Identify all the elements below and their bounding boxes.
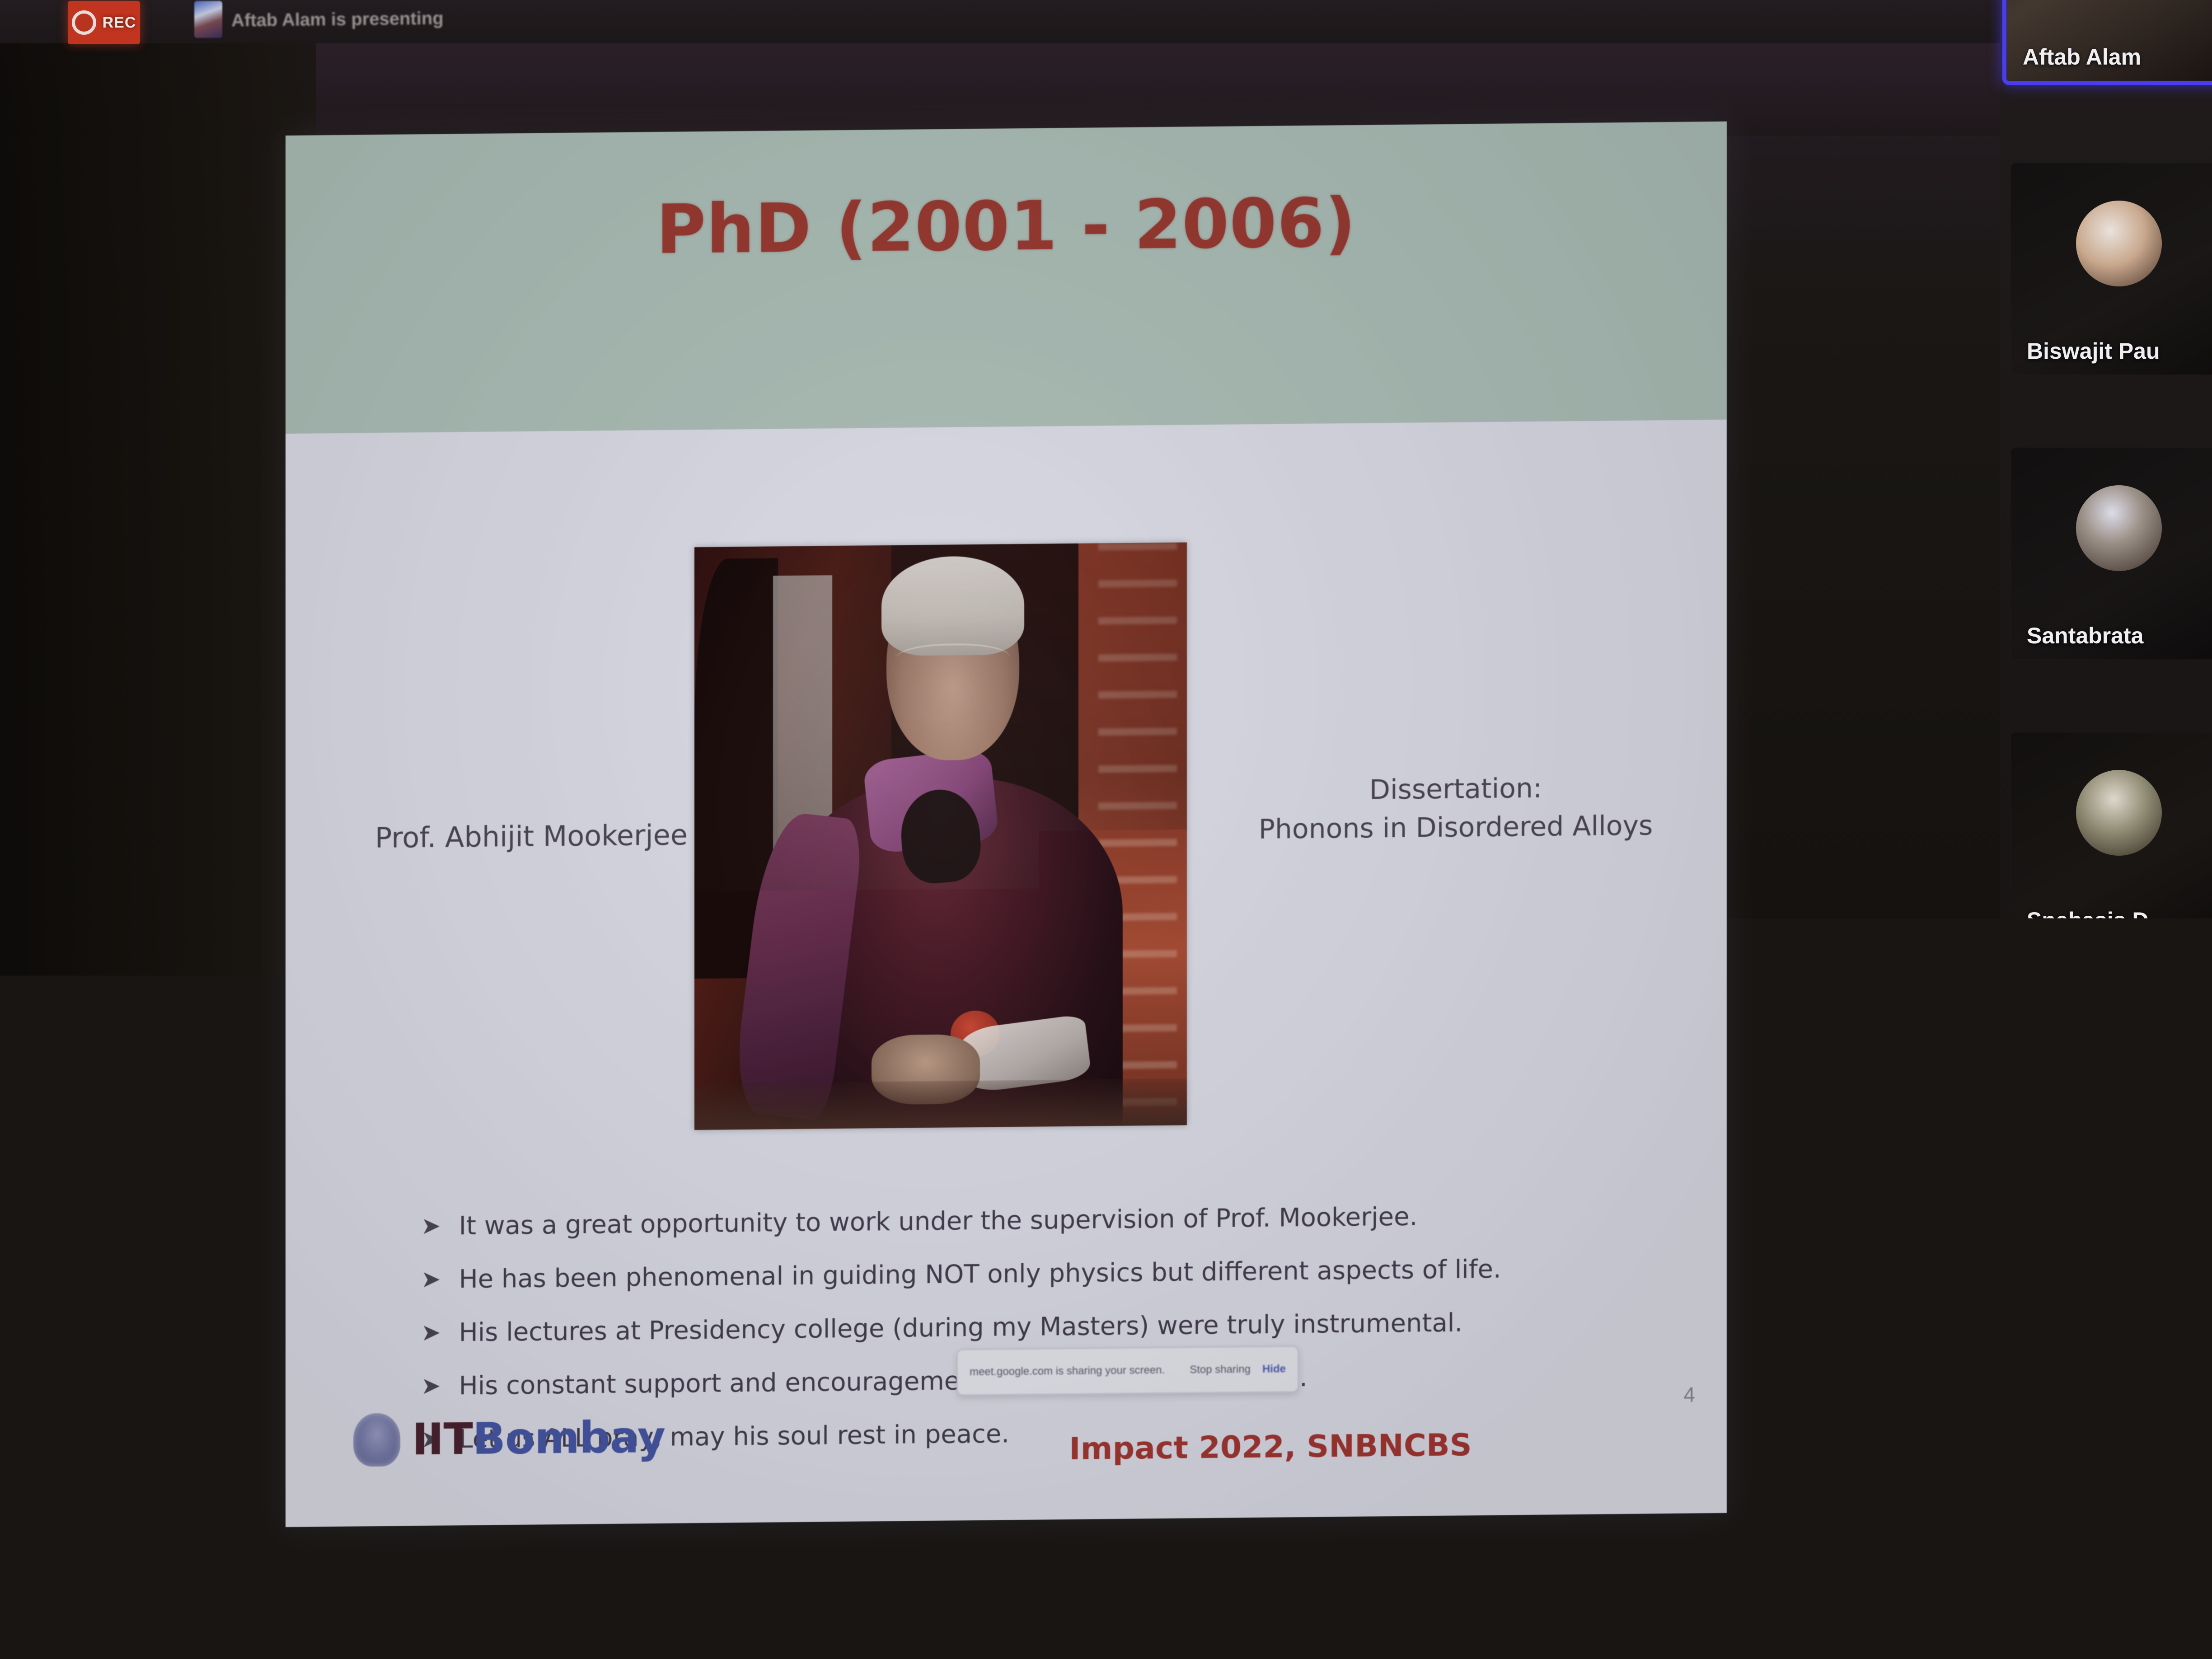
share-message: meet.google.com is sharing your screen. bbox=[970, 1364, 1178, 1379]
participant-tile-aftab-alam[interactable]: Aftab Alam bbox=[2002, 0, 2212, 85]
list-item: ➤ He has been phenomenal in guiding NOT … bbox=[421, 1255, 1664, 1293]
bullet-text: It was a great opportunity to work under… bbox=[459, 1202, 1664, 1239]
logo-iit-text: IIT bbox=[412, 1414, 473, 1465]
dissertation-title: Phonons in Disordered Alloys bbox=[1216, 806, 1695, 850]
iit-bombay-logo: IITBombay bbox=[353, 1411, 665, 1467]
slide-number: 4 bbox=[1683, 1382, 1695, 1406]
avatar bbox=[2076, 770, 2162, 856]
conference-footer: Impact 2022, SNBNCBS bbox=[977, 1426, 1564, 1468]
hide-button[interactable]: Hide bbox=[1262, 1363, 1286, 1376]
stop-sharing-button[interactable]: Stop sharing bbox=[1190, 1363, 1251, 1376]
participant-name: Santabrata bbox=[2027, 623, 2143, 649]
participant-name: Hemant Ka bbox=[2027, 1476, 2145, 1503]
participant-rail: Aftab Alam Biswajit Pau Santabrata Sneha… bbox=[2000, 0, 2212, 1659]
recording-label: REC bbox=[103, 14, 136, 32]
bullet-arrow-icon: ➤ bbox=[421, 1321, 441, 1345]
participant-name: Snehasis D bbox=[2027, 907, 2149, 933]
slide-title-band bbox=[286, 122, 1727, 434]
avatar bbox=[2076, 1339, 2162, 1425]
bullet-text: His lectures at Presidency college (duri… bbox=[459, 1308, 1664, 1345]
dissertation-block: Dissertation: Phonons in Disordered Allo… bbox=[1216, 768, 1695, 849]
logo-bombay-text: Bombay bbox=[473, 1412, 665, 1464]
participant-tile-snehasis-d[interactable]: Snehasis D bbox=[2010, 732, 2212, 944]
slide-title: PhD (2001 - 2006) bbox=[286, 180, 1727, 273]
portrait-photo bbox=[694, 542, 1187, 1130]
avatar bbox=[2076, 201, 2162, 286]
avatar bbox=[2076, 485, 2162, 571]
list-item: ➤ It was a great opportunity to work und… bbox=[421, 1202, 1664, 1239]
list-item: ➤ His lectures at Presidency college (du… bbox=[421, 1308, 1664, 1346]
projected-slide-area: PhD (2001 - 2006) Prof. Abhijit Mookerje… bbox=[286, 122, 1727, 1527]
photo-soft-overlay bbox=[694, 542, 1187, 1130]
bullet-arrow-icon: ➤ bbox=[421, 1267, 441, 1292]
iit-bombay-wordmark: IITBombay bbox=[412, 1412, 665, 1465]
participant-name: Aftab Alam bbox=[2023, 44, 2141, 70]
participant-tile-hemant-ka[interactable]: Hemant Ka bbox=[2010, 1301, 2212, 1514]
meet-top-bar: REC Aftab Alam is presenting bbox=[0, 0, 2006, 43]
photo-caption: Prof. Abhijit Mookerjee bbox=[353, 818, 688, 854]
presenter-avatar bbox=[194, 1, 222, 38]
screen-share-notification-bar: meet.google.com is sharing your screen. … bbox=[956, 1345, 1299, 1396]
participant-name: Biswajit Pau bbox=[2027, 338, 2160, 364]
record-circle-icon bbox=[72, 10, 96, 35]
participant-tile-biswajit-paul[interactable]: Biswajit Pau bbox=[2010, 163, 2212, 375]
bullet-arrow-icon: ➤ bbox=[421, 1214, 441, 1239]
bullet-text: He has been phenomenal in guiding NOT on… bbox=[459, 1255, 1664, 1292]
camera-date-stamp: 28 05 2022 bbox=[1889, 1524, 2174, 1582]
presenting-status-text: Aftab Alam is presenting bbox=[231, 8, 444, 31]
avatar bbox=[2076, 1054, 2162, 1140]
recording-badge: REC bbox=[68, 1, 140, 44]
slide-canvas: PhD (2001 - 2006) Prof. Abhijit Mookerje… bbox=[286, 122, 1727, 1527]
bullet-arrow-icon: ➤ bbox=[421, 1374, 441, 1399]
participant-tile-santabrata[interactable]: Santabrata bbox=[2010, 447, 2212, 660]
dissertation-label: Dissertation: bbox=[1216, 768, 1695, 811]
participant-tile-soumyakan[interactable]: Soumyakan bbox=[2010, 1017, 2212, 1229]
participant-name: Soumyakan bbox=[2027, 1192, 2154, 1218]
iit-crest-icon bbox=[353, 1413, 400, 1467]
presenter-banner: Aftab Alam is presenting bbox=[194, 0, 444, 39]
left-wall-shadow bbox=[0, 0, 316, 1659]
